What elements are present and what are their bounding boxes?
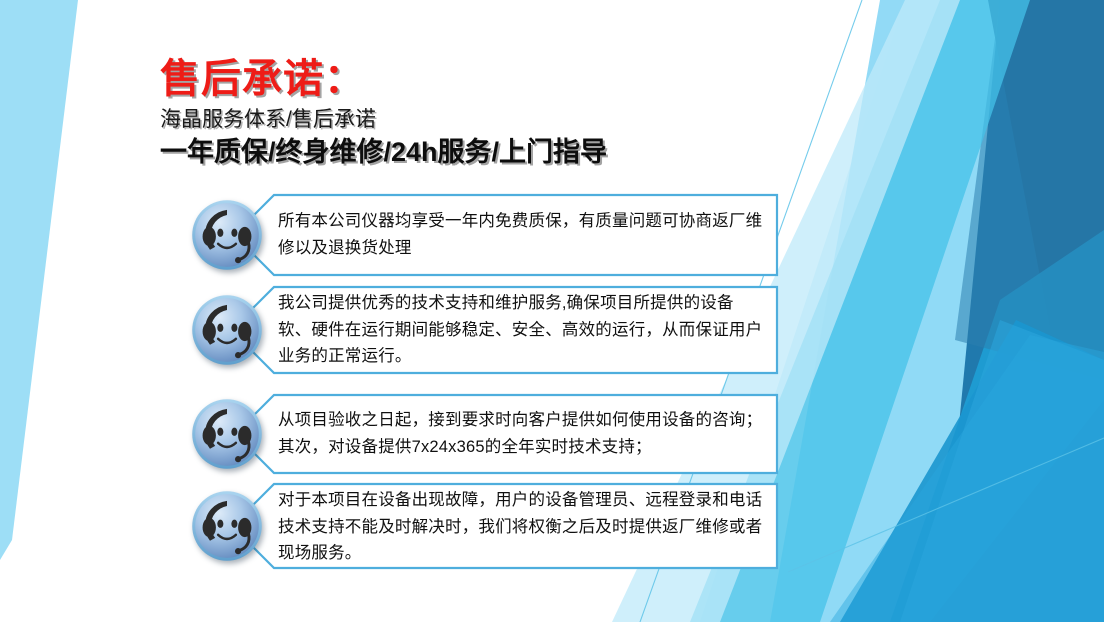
callout-text: 所有本公司仪器均享受一年内免费质保，有质量问题可协商返厂维修以及退换货处理 xyxy=(278,208,766,261)
callout-text: 从项目验收之日起，接到要求时向客户提供如何使用设备的咨询；其次，对设备提供7x2… xyxy=(278,407,766,460)
slide-canvas: 售后承诺： 海晶服务体系/售后承诺 一年质保/终身维修/24h服务/上门指导 所… xyxy=(0,0,1104,622)
headset-smiley-icon xyxy=(190,489,264,563)
breadcrumb: 海晶服务体系/售后承诺 xyxy=(160,107,607,132)
headset-smiley-icon xyxy=(190,293,264,367)
callout-text: 我公司提供优秀的技术支持和维护服务,确保项目所提供的设备软、硬件在运行期间能够稳… xyxy=(278,290,766,370)
page-header: 售后承诺： 海晶服务体系/售后承诺 一年质保/终身维修/24h服务/上门指导 xyxy=(160,58,607,168)
page-title: 售后承诺： xyxy=(160,58,607,100)
headset-smiley-icon xyxy=(190,397,264,471)
callout-text: 对于本项目在设备出现故障，用户的设备管理员、远程登录和电话技术支持不能及时解决时… xyxy=(278,487,766,567)
callout-bubble: 对于本项目在设备出现故障，用户的设备管理员、远程登录和电话技术支持不能及时解决时… xyxy=(252,483,778,569)
callout-bubble: 所有本公司仪器均享受一年内免费质保，有质量问题可协商返厂维修以及退换货处理 xyxy=(252,194,778,276)
tagline: 一年质保/终身维修/24h服务/上门指导 xyxy=(160,137,607,168)
callout-bubble: 从项目验收之日起，接到要求时向客户提供如何使用设备的咨询；其次，对设备提供7x2… xyxy=(252,394,778,474)
headset-smiley-icon xyxy=(190,198,264,272)
callout-bubble: 我公司提供优秀的技术支持和维护服务,确保项目所提供的设备软、硬件在运行期间能够稳… xyxy=(252,286,778,374)
